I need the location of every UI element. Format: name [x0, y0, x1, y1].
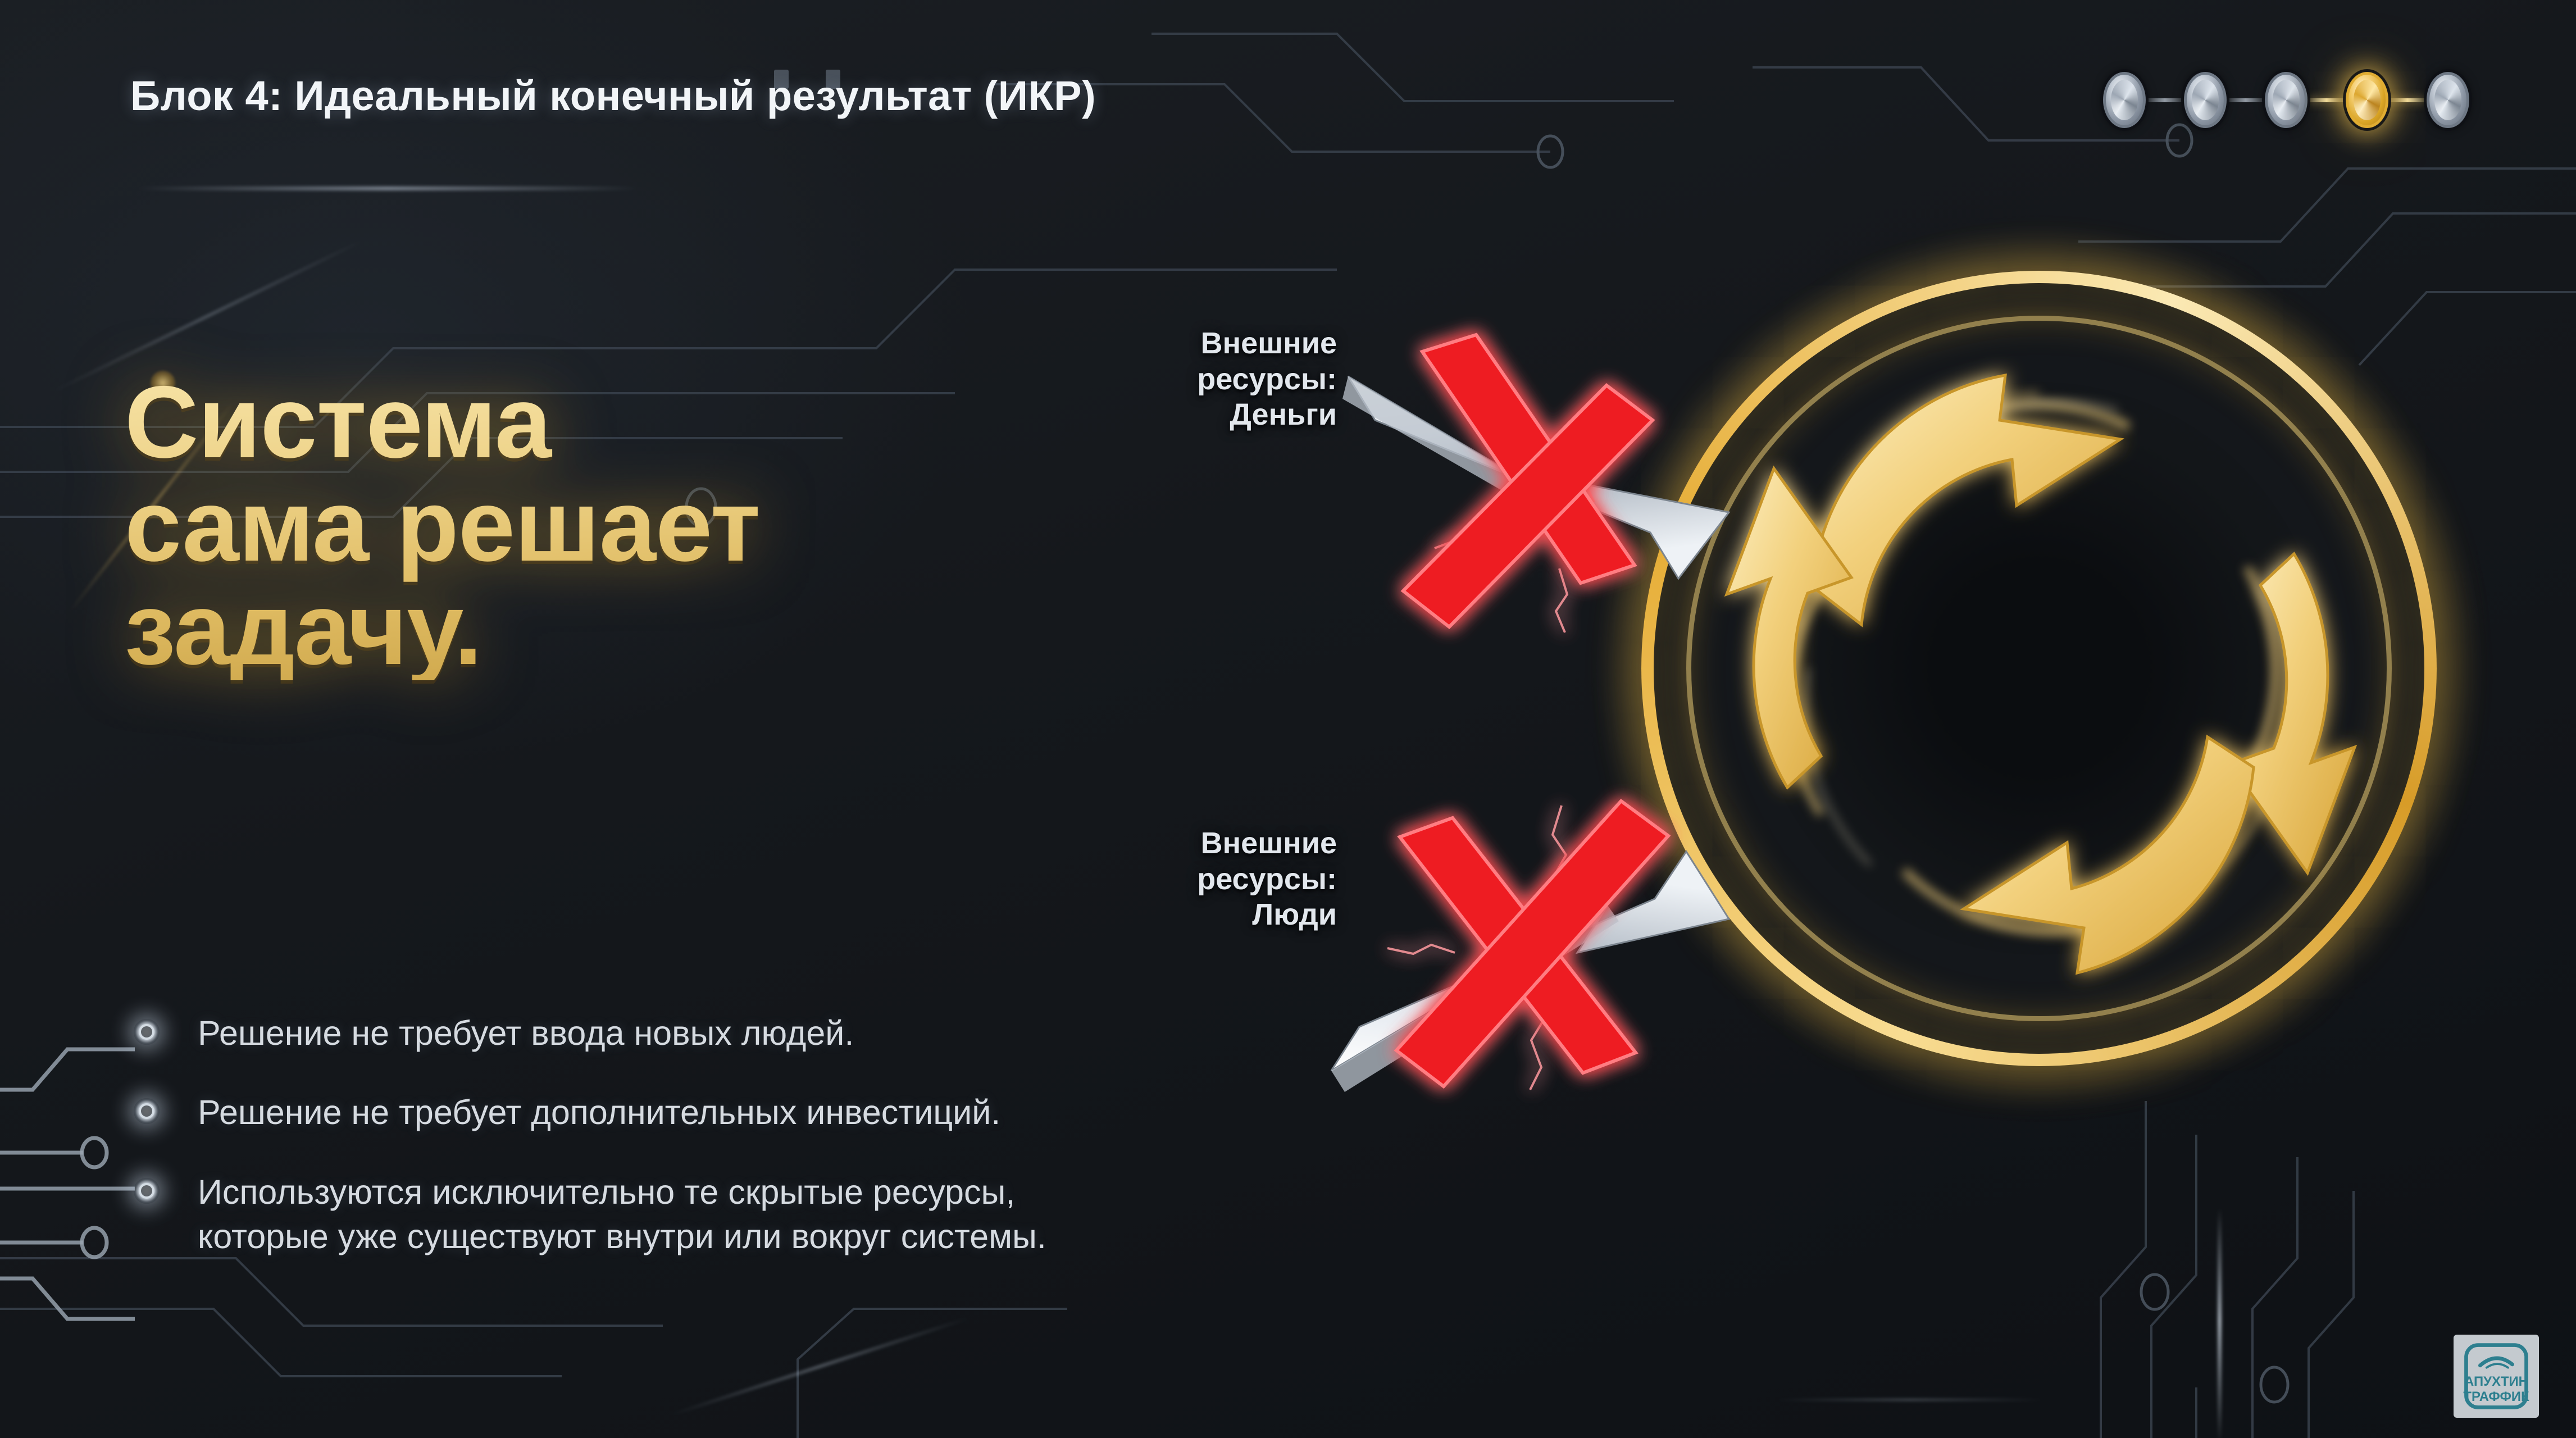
step-connector [2146, 98, 2184, 102]
list-item-text: Решение не требует дополнительных инвест… [198, 1090, 1000, 1135]
circuit-node-icon [134, 1098, 160, 1124]
cycle-arrows-group [1612, 242, 2466, 1095]
slide-root: Блок 4: Идеальный конечный результат (ИК… [0, 0, 2576, 1438]
label-line-1: Внешние [1101, 826, 1337, 862]
blocked-resource-label-people: Внешние ресурсы: Люди [1101, 826, 1337, 933]
step-connector [2227, 98, 2265, 102]
circuit-node-icon [134, 1178, 160, 1204]
headline-line-1: Система [125, 371, 760, 474]
step-indicator-dot-4-active[interactable] [2346, 72, 2388, 128]
step-indicator [2103, 72, 2469, 128]
step-connector [2308, 98, 2346, 102]
label-line-1: Внешние [1101, 326, 1337, 362]
step-indicator-dot-5[interactable] [2427, 72, 2469, 128]
self-solving-cycle-diagram [1612, 242, 2466, 1095]
light-streak [135, 186, 640, 190]
step-connector [2388, 98, 2427, 102]
logo-line-2: ТРАФФИК [2463, 1389, 2529, 1404]
list-item: Используются исключительно те скрытые ре… [134, 1170, 1605, 1259]
label-line-3: Люди [1101, 897, 1337, 933]
light-streak [1775, 1399, 2045, 1401]
light-streak-vertical [2218, 1208, 2222, 1438]
label-line-3: Деньги [1101, 397, 1337, 433]
list-item-text: Решение не требует ввода новых людей. [198, 1011, 854, 1055]
headline-line-3: задачу. [125, 577, 760, 681]
logo-line-1: АПУХТИН [2464, 1374, 2528, 1389]
benefits-list: Решение не требует ввода новых людей. Ре… [134, 1011, 1605, 1259]
light-streak [670, 1317, 970, 1417]
blocked-resource-label-money: Внешние ресурсы: Деньги [1101, 326, 1337, 433]
label-line-2: ресурсы: [1101, 362, 1337, 398]
list-item-text-line-2: которые уже существуют внутри или вокруг… [198, 1214, 1046, 1259]
list-item-text-line-1: Используются исключительно те скрытые ре… [198, 1170, 1046, 1214]
step-indicator-dot-2[interactable] [2184, 72, 2227, 128]
list-item-text: Используются исключительно те скрытые ре… [198, 1170, 1046, 1259]
headline: Система сама решает задачу. [125, 371, 760, 680]
list-item: Решение не требует ввода новых людей. [134, 1011, 1605, 1055]
brand-logo: АПУХТИН ТРАФФИК [2454, 1335, 2539, 1418]
page-title: Блок 4: Идеальный конечный результат (ИК… [130, 72, 1096, 120]
step-indicator-dot-1[interactable] [2103, 72, 2146, 128]
headline-line-2: сама решает [125, 474, 760, 577]
list-item: Решение не требует дополнительных инвест… [134, 1090, 1605, 1135]
step-indicator-dot-3[interactable] [2265, 72, 2308, 128]
label-line-2: ресурсы: [1101, 862, 1337, 898]
circuit-node-icon [134, 1019, 160, 1045]
